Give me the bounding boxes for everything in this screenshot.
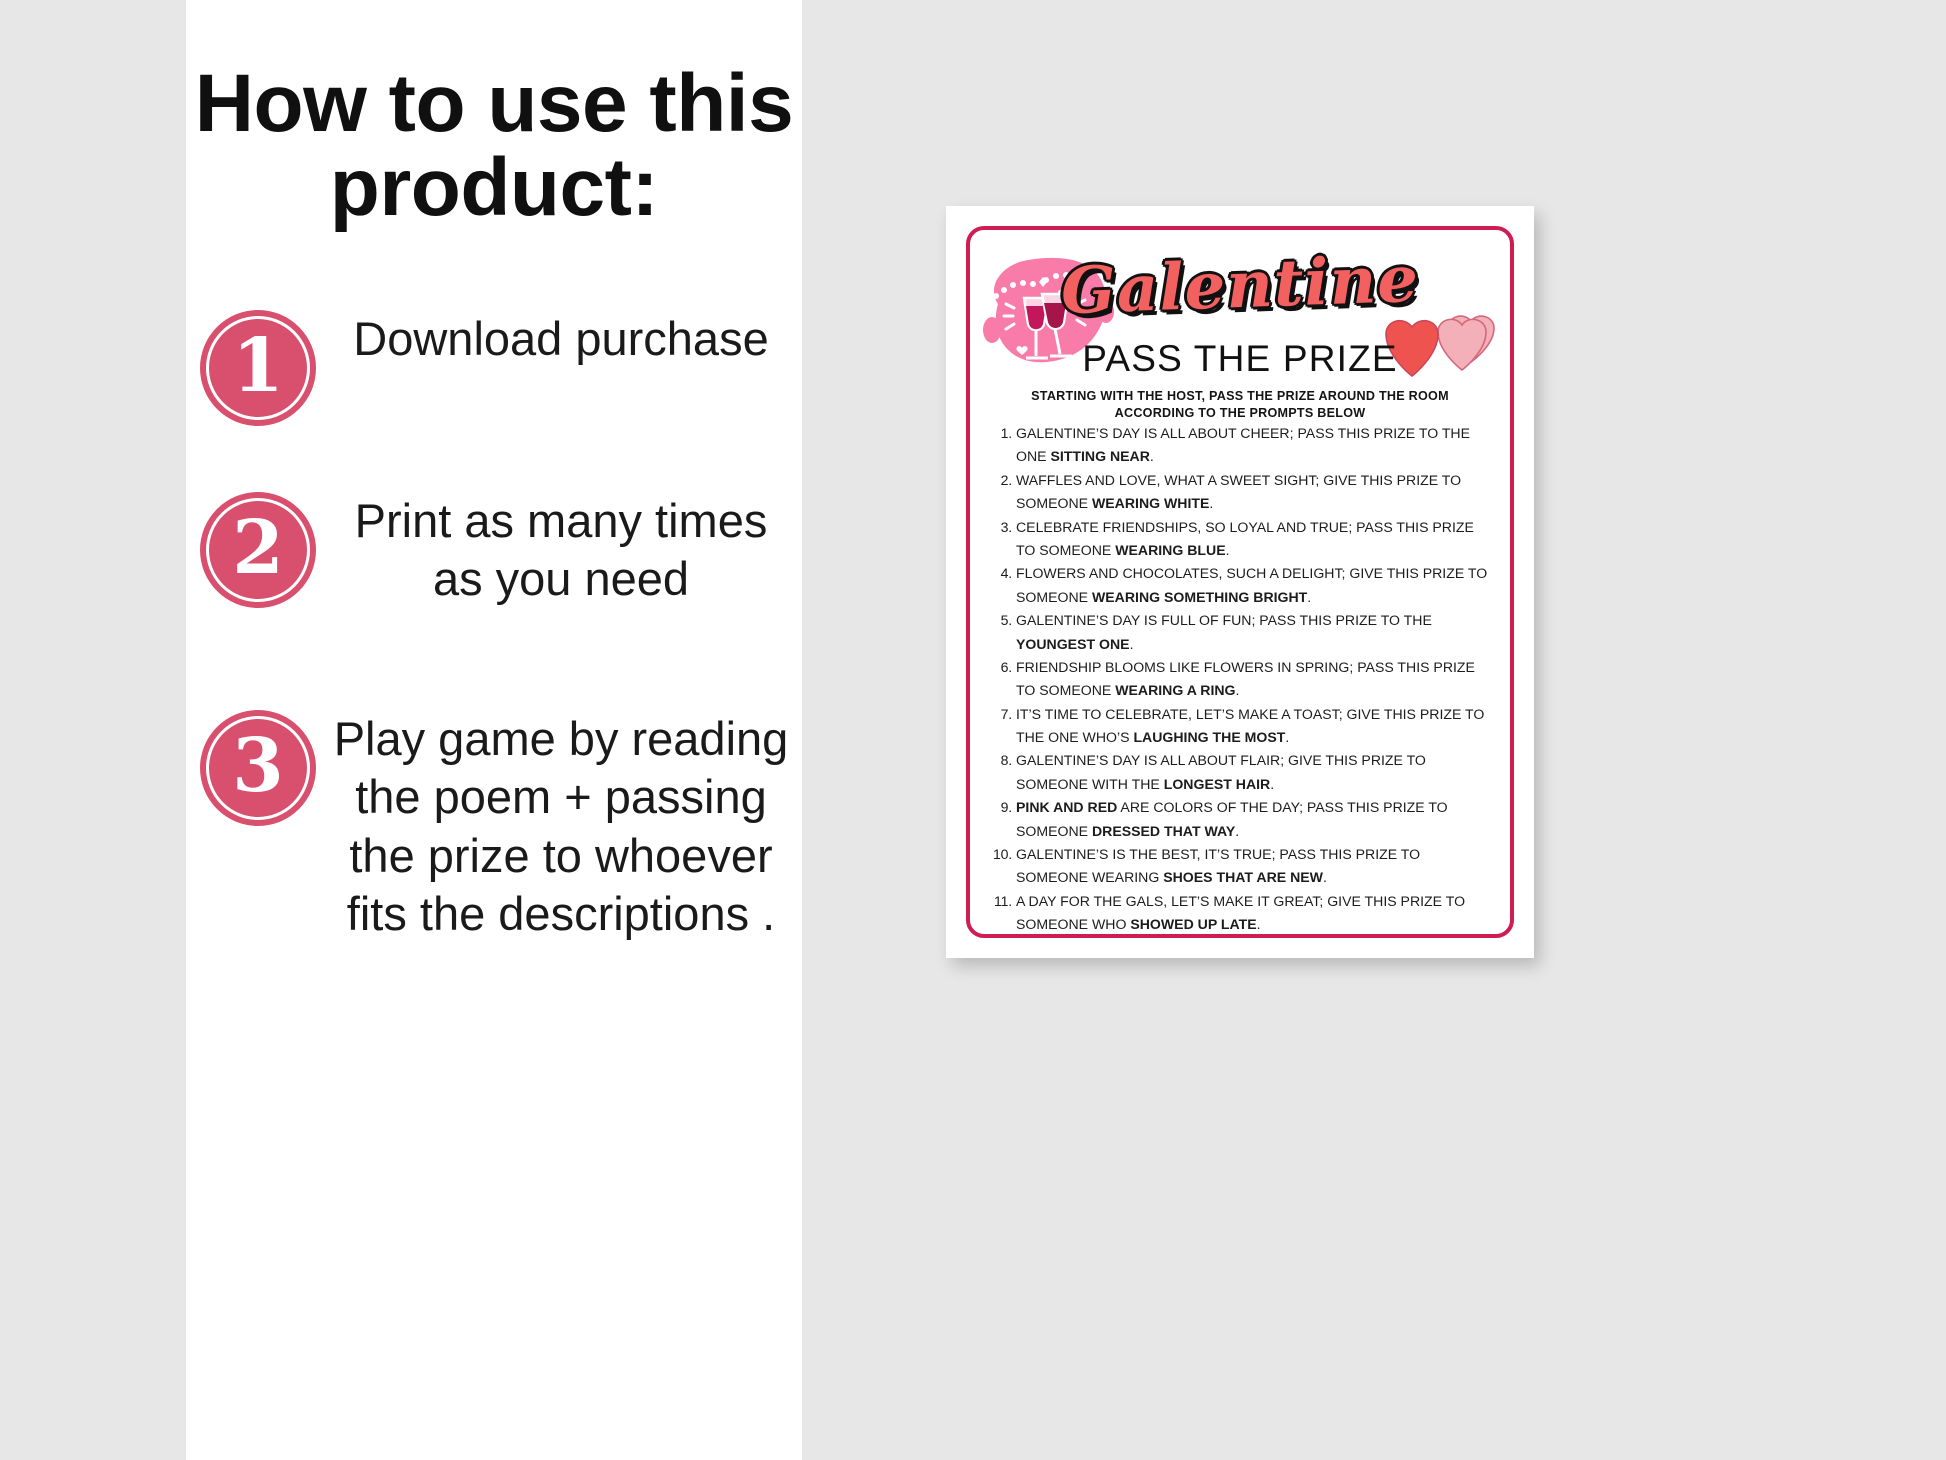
prompt-plain: . [1209, 495, 1213, 511]
prompt-number: 6. [986, 656, 1016, 679]
poster-subtitle: STARTING WITH THE HOST, PASS THE PRIZE A… [1006, 388, 1474, 421]
list-item: 6.FRIENDSHIP BLOOMS LIKE FLOWERS IN SPRI… [986, 656, 1496, 703]
prompt-emphasis: WEARING WHITE [1092, 495, 1209, 511]
prompt-emphasis: WEARING BLUE [1115, 542, 1225, 558]
prompt-number: 5. [986, 609, 1016, 632]
list-item: 2.WAFFLES AND LOVE, WHAT A SWEET SIGHT; … [986, 469, 1496, 516]
prompt-emphasis: SITTING NEAR [1050, 448, 1149, 464]
prompt-plain: FRIENDSHIP BLOOMS LIKE FLOWERS IN SPRING… [1016, 659, 1475, 698]
prompt-number: 2. [986, 469, 1016, 492]
step-text-1: Download purchase [316, 310, 802, 368]
prompt-plain: . [1236, 682, 1240, 698]
prompt-number: 1. [986, 422, 1016, 445]
page-title: How to use this product: [186, 62, 802, 231]
step-number-3: 3 [200, 710, 316, 826]
prompt-text: GALENTINE’S IS THE BEST, IT’S TRUE; PASS… [1016, 843, 1496, 890]
prompt-plain: . [1285, 729, 1289, 745]
list-item: 8.GALENTINE’S DAY IS ALL ABOUT FLAIR; GI… [986, 749, 1496, 796]
prompt-number: 12. [986, 937, 1016, 938]
prompt-number: 4. [986, 562, 1016, 585]
prompt-plain: WAFFLES AND LOVE, WHAT A SWEET SIGHT; GI… [1016, 472, 1461, 511]
prompt-plain: . [1270, 776, 1274, 792]
list-item: 5.GALENTINE’S DAY IS FULL OF FUN; PASS T… [986, 609, 1496, 656]
prompt-text: GALENTINE’S DAY IS ALL ABOUT HEART; GIVE… [1016, 937, 1496, 938]
prompt-number: 11. [986, 890, 1016, 913]
prompt-emphasis: PINK AND RED [1016, 799, 1117, 815]
prompt-plain: . [1226, 542, 1230, 558]
prompt-plain: CELEBRATE FRIENDSHIPS, SO LOYAL AND TRUE… [1016, 519, 1474, 558]
step-text-3: Play game by reading the poem + passing … [316, 710, 802, 943]
prompt-text: GALENTINE’S DAY IS ALL ABOUT FLAIR; GIVE… [1016, 749, 1496, 796]
poster-headline: PASS THE PRIZE [970, 340, 1510, 377]
step-number-2: 2 [200, 492, 316, 608]
prompt-emphasis: LAUGHING THE MOST [1133, 729, 1285, 745]
prompt-emphasis: SHOES THAT ARE NEW [1163, 869, 1323, 885]
list-item: 12.GALENTINE’S DAY IS ALL ABOUT HEART; G… [986, 937, 1496, 938]
step-row-3: 3 Play game by reading the poem + passin… [186, 710, 802, 943]
prompt-number: 8. [986, 749, 1016, 772]
poster-header: Galentine PASS THE PRIZE STARTING WITH T… [970, 230, 1510, 410]
prompt-plain: . [1235, 823, 1239, 839]
list-item: 10.GALENTINE’S IS THE BEST, IT’S TRUE; P… [986, 843, 1496, 890]
prompt-text: IT’S TIME TO CELEBRATE, LET’S MAKE A TOA… [1016, 703, 1496, 750]
prompt-text: GALENTINE’S DAY IS ALL ABOUT CHEER; PASS… [1016, 422, 1496, 469]
prompt-plain: . [1130, 636, 1134, 652]
prompt-text: WAFFLES AND LOVE, WHAT A SWEET SIGHT; GI… [1016, 469, 1496, 516]
prompt-emphasis: LONGEST HAIR [1164, 776, 1271, 792]
step-row-2: 2 Print as many times as you need [186, 492, 802, 609]
prompt-list: 1.GALENTINE’S DAY IS ALL ABOUT CHEER; PA… [986, 422, 1496, 938]
step-number-1: 1 [200, 310, 316, 426]
galentine-pass-the-prize-poster: Galentine PASS THE PRIZE STARTING WITH T… [946, 206, 1534, 958]
list-item: 3.CELEBRATE FRIENDSHIPS, SO LOYAL AND TR… [986, 516, 1496, 563]
prompt-plain: . [1257, 916, 1261, 932]
prompt-plain: . [1150, 448, 1154, 464]
prompt-emphasis: SHOWED UP LATE [1130, 916, 1256, 932]
list-item: 7.IT’S TIME TO CELEBRATE, LET’S MAKE A T… [986, 703, 1496, 750]
prompt-plain: GALENTINE’S DAY IS FULL OF FUN; PASS THI… [1016, 612, 1432, 628]
step-row-1: 1 Download purchase [186, 310, 802, 426]
step-text-2: Print as many times as you need [316, 492, 802, 609]
prompt-text: GALENTINE’S DAY IS FULL OF FUN; PASS THI… [1016, 609, 1496, 656]
list-item: 11.A DAY FOR THE GALS, LET’S MAKE IT GRE… [986, 890, 1496, 937]
list-item: 1.GALENTINE’S DAY IS ALL ABOUT CHEER; PA… [986, 422, 1496, 469]
prompt-number: 10. [986, 843, 1016, 866]
poster-inner-border: Galentine PASS THE PRIZE STARTING WITH T… [966, 226, 1514, 938]
list-item: 9.PINK AND RED ARE COLORS OF THE DAY; PA… [986, 796, 1496, 843]
prompt-text: FLOWERS AND CHOCOLATES, SUCH A DELIGHT; … [1016, 562, 1496, 609]
prompt-emphasis: WEARING A RING [1115, 682, 1235, 698]
prompt-plain: . [1307, 589, 1311, 605]
step-badge-3: 3 [200, 710, 316, 826]
prompt-number: 9. [986, 796, 1016, 819]
prompt-text: PINK AND RED ARE COLORS OF THE DAY; PASS… [1016, 796, 1496, 843]
prompt-emphasis: YOUNGEST ONE [1016, 636, 1130, 652]
prompt-number: 7. [986, 703, 1016, 726]
step-badge-1: 1 [200, 310, 316, 426]
prompt-emphasis: DRESSED THAT WAY [1092, 823, 1235, 839]
list-item: 4.FLOWERS AND CHOCOLATES, SUCH A DELIGHT… [986, 562, 1496, 609]
prompt-text: A DAY FOR THE GALS, LET’S MAKE IT GREAT;… [1016, 890, 1496, 937]
how-to-use-panel: How to use this product: 1 Download purc… [186, 0, 802, 1460]
prompt-text: FRIENDSHIP BLOOMS LIKE FLOWERS IN SPRING… [1016, 656, 1496, 703]
prompt-emphasis: WEARING SOMETHING BRIGHT [1092, 589, 1307, 605]
step-badge-2: 2 [200, 492, 316, 608]
prompt-plain: . [1323, 869, 1327, 885]
prompt-text: CELEBRATE FRIENDSHIPS, SO LOYAL AND TRUE… [1016, 516, 1496, 563]
prompt-number: 3. [986, 516, 1016, 539]
